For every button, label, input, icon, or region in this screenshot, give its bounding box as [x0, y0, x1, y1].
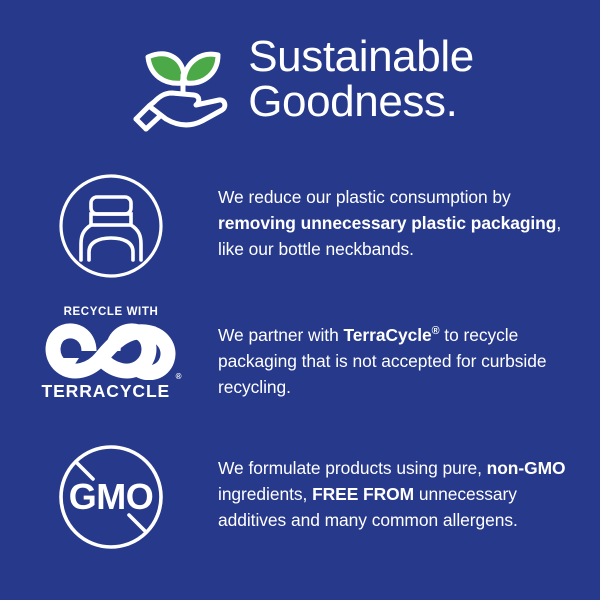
feature-icon-cell: [0, 172, 218, 280]
header: Sustainable Goodness.: [0, 22, 600, 140]
feature-text-terracycle: We partner with TerraCycle® to recycle p…: [218, 318, 584, 400]
feature-row-terracycle: RECYCLE WITH TERRACYCLE ® We partner wit…: [0, 306, 600, 402]
feature-text-cell: We partner with TerraCycle® to recycle p…: [218, 306, 600, 400]
infinity-recycle-arrows-icon: [43, 322, 179, 380]
terracycle-top-label: RECYCLE WITH: [64, 306, 159, 319]
feature-text-plastic: We reduce our plastic consumption by rem…: [218, 184, 584, 262]
page-title: Sustainable Goodness.: [248, 34, 474, 128]
bottle-in-circle-icon: [57, 172, 165, 280]
hand-holding-sprout-icon: [126, 31, 234, 135]
feature-text-cell: We formulate products using pure, non-GM…: [218, 443, 600, 533]
no-gmo-icon: GMO: [57, 443, 165, 551]
feature-row-gmo: GMO We formulate products using pure, no…: [0, 443, 600, 551]
terracycle-logo: RECYCLE WITH TERRACYCLE ®: [36, 306, 186, 402]
feature-icon-cell: RECYCLE WITH TERRACYCLE ®: [0, 306, 218, 402]
feature-text-cell: We reduce our plastic consumption by rem…: [218, 172, 600, 262]
terracycle-bottom-label: TERRACYCLE: [42, 381, 171, 401]
feature-text-gmo: We formulate products using pure, non-GM…: [218, 455, 584, 533]
feature-row-plastic: We reduce our plastic consumption by rem…: [0, 172, 600, 280]
feature-icon-cell: GMO: [0, 443, 218, 551]
terracycle-registered-mark: ®: [176, 372, 182, 381]
gmo-label: GMO: [69, 476, 154, 517]
